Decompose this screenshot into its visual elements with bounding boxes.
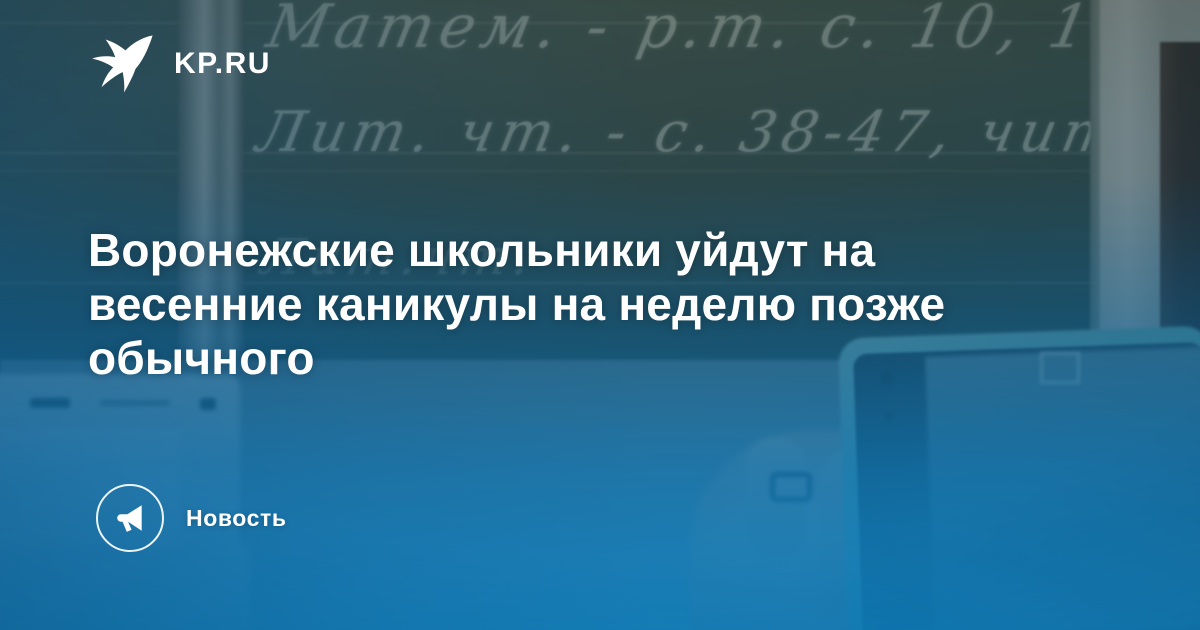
megaphone-icon: [96, 484, 164, 552]
status-badge[interactable]: Новость: [96, 484, 287, 552]
brand-logo[interactable]: KP.RU: [88, 30, 271, 98]
status-badge-label: Новость: [186, 505, 287, 532]
swallow-bird-icon: [88, 30, 156, 98]
brand-name: KP.RU: [174, 49, 271, 79]
page-title: Воронежские школьники уйдут на весенние …: [88, 223, 1098, 385]
social-share-card: Матем. - р.т. с. 10, 11. Лит. чт. - с. 3…: [0, 0, 1200, 630]
